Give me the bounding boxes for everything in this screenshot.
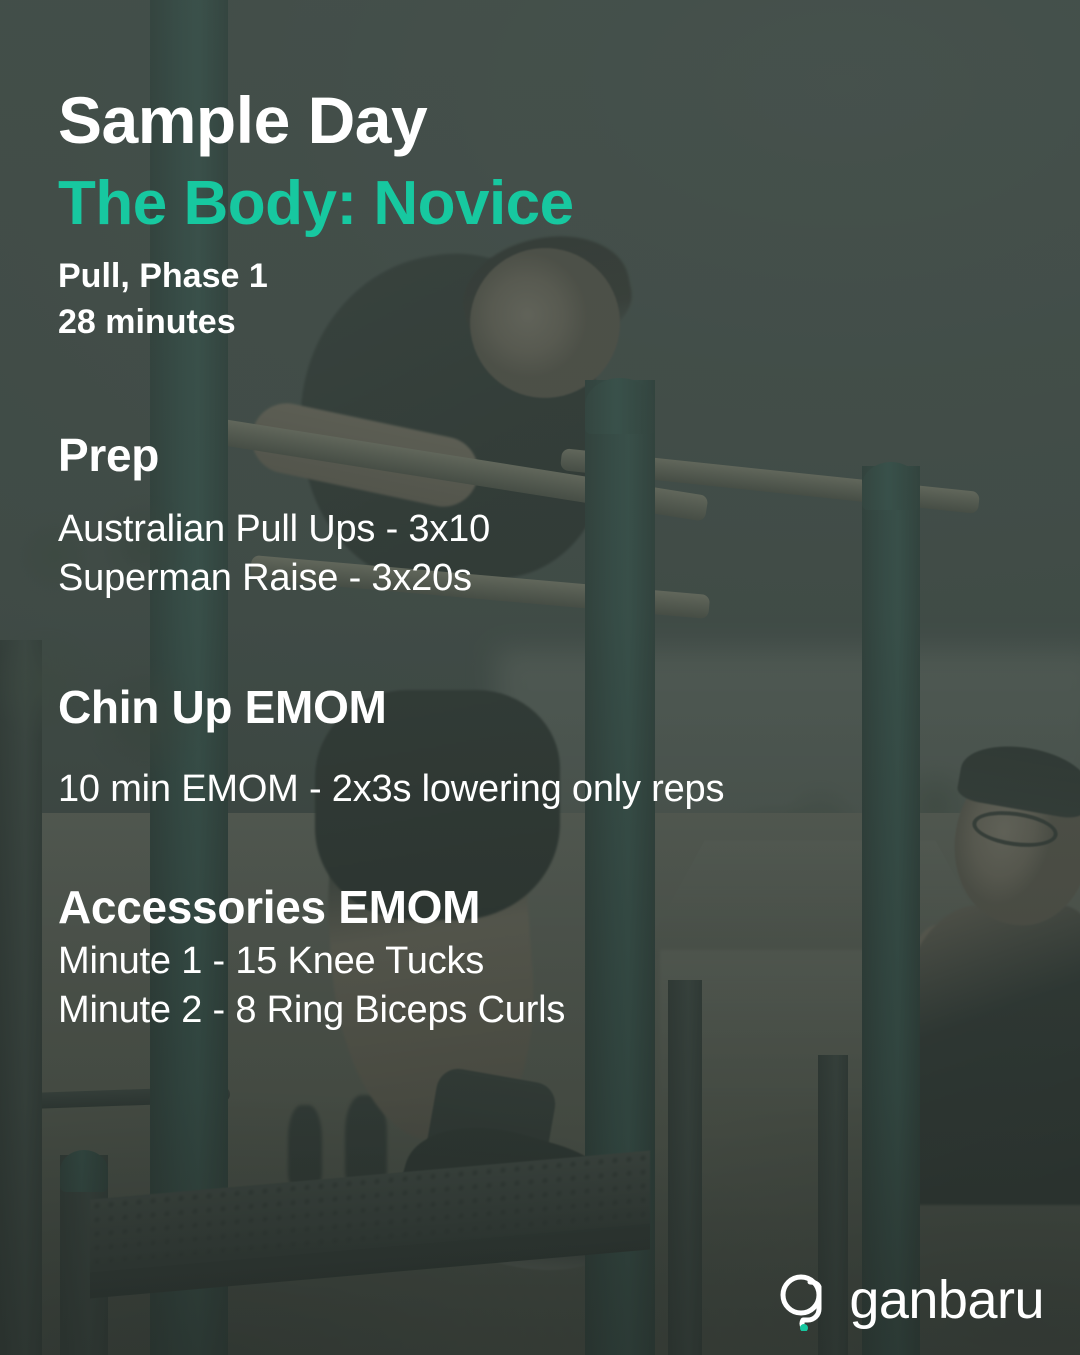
poster-content: Sample Day The Body: Novice Pull, Phase …	[0, 0, 1080, 1355]
page-subtitle: The Body: Novice	[58, 172, 574, 236]
meta-phase: Pull, Phase 1	[58, 256, 268, 296]
section-line: Minute 2 - 8 Ring Biceps Curls	[58, 989, 565, 1032]
brand-logo: ganbaru	[777, 1269, 1044, 1331]
section-line: Superman Raise - 3x20s	[58, 557, 472, 600]
section-line: 10 min EMOM - 2x3s lowering only reps	[58, 768, 724, 811]
brand-wordmark: ganbaru	[849, 1273, 1044, 1327]
workout-poster: Sample Day The Body: Novice Pull, Phase …	[0, 0, 1080, 1355]
meta-duration: 28 minutes	[58, 302, 236, 342]
page-title: Sample Day	[58, 86, 427, 155]
section-line: Australian Pull Ups - 3x10	[58, 508, 490, 551]
ganbaru-g-icon	[777, 1269, 833, 1331]
section-heading-chin-up-emom: Chin Up EMOM	[58, 680, 387, 734]
section-heading-accessories-emom: Accessories EMOM	[58, 880, 480, 934]
section-heading-prep: Prep	[58, 428, 159, 482]
section-line: Minute 1 - 15 Knee Tucks	[58, 940, 484, 983]
